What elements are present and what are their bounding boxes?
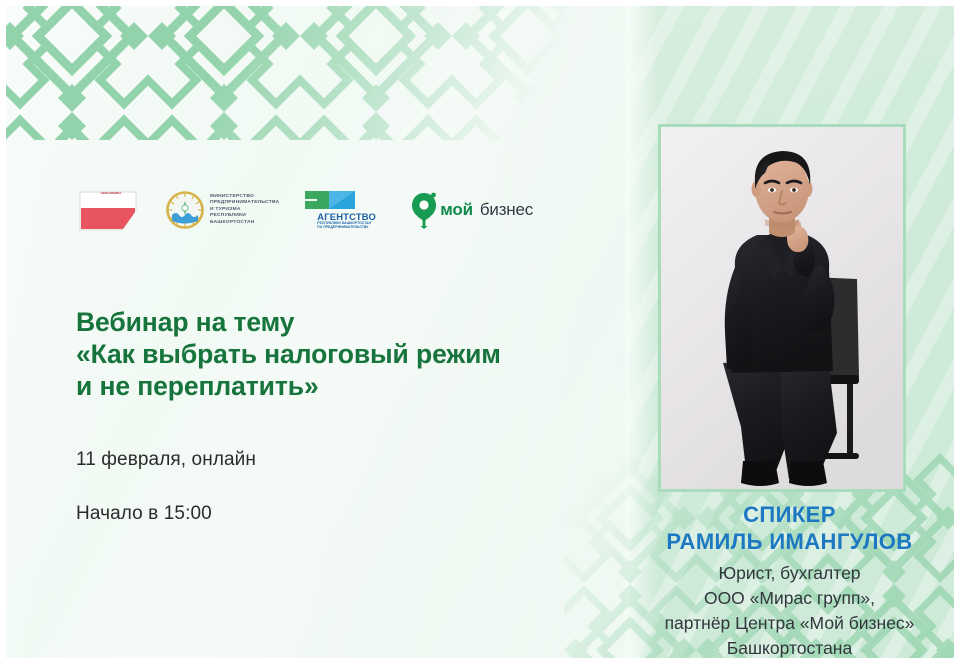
ornament-pattern-top-left <box>6 6 656 140</box>
poster-headline: Вебинар на тему «Как выбрать налоговый р… <box>76 306 636 402</box>
bashkortostan-emblem-icon <box>166 191 204 229</box>
logo-my-business: мой бизнес <box>411 191 533 229</box>
event-date: 11 февраля, онлайн <box>76 448 256 472</box>
event-time: Начало в 15:00 <box>76 502 212 526</box>
logo-my-business-accent: мой <box>440 200 473 220</box>
agency-mark-icon <box>305 189 357 211</box>
logo-ministry-text: МИНИСТЕРСТВО ПРЕДПРИНИМАТЕЛЬСТВА И ТУРИЗ… <box>210 194 279 227</box>
logo-my-business-plain: бизнес <box>480 200 533 220</box>
logo-agency-subtitle: РЕСПУБЛИКИ БАШКОРТОСТАН ПО ПРЕДПРИНИМАТЕ… <box>317 221 385 229</box>
speaker-photo <box>658 124 906 492</box>
logo-np-caption: ЭКОНОМИКА <box>90 192 132 196</box>
map-pin-icon <box>411 191 437 229</box>
logo-ministry: МИНИСТЕРСТВО ПРЕДПРИНИМАТЕЛЬСТВА И ТУРИЗ… <box>166 191 279 229</box>
speaker-title: СПИКЕР РАМИЛЬ ИМАНГУЛОВ <box>625 501 954 555</box>
logo-national-projects-russia: ЭКОНОМИКА НАЦИОНАЛЬНЫЕ ПРОЕКТЫ РОССИИ <box>78 184 140 236</box>
logo-agency: АГЕНТСТВО РЕСПУБЛИКИ БАШКОРТОСТАН ПО ПРЕ… <box>305 187 385 233</box>
webinar-poster: ЭКОНОМИКА НАЦИОНАЛЬНЫЕ ПРОЕКТЫ РОССИИ <box>0 0 960 664</box>
speaker-portrait-image <box>661 127 903 489</box>
partner-logos: ЭКОНОМИКА НАЦИОНАЛЬНЫЕ ПРОЕКТЫ РОССИИ <box>78 184 533 236</box>
logo-np-text: НАЦИОНАЛЬНЫЕ ПРОЕКТЫ РОССИИ <box>87 197 133 207</box>
speaker-description: Юрист, бухгалтер ООО «Мирас групп», парт… <box>625 561 954 658</box>
poster-canvas: ЭКОНОМИКА НАЦИОНАЛЬНЫЕ ПРОЕКТЫ РОССИИ <box>6 6 954 658</box>
